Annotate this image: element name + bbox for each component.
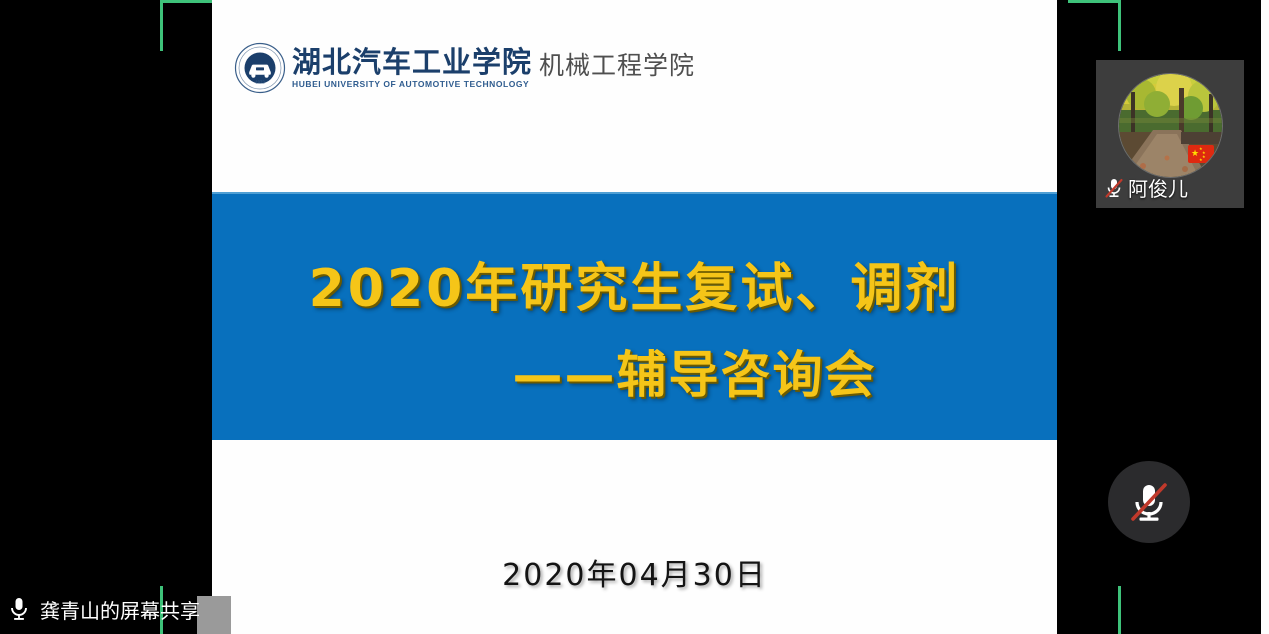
university-seal-icon: 1972 [234,42,286,94]
university-wordmark: 湖北汽车工业学院 HUBEI UNIVERSITY OF AUTOMOTIVE … [292,47,532,89]
microphone-muted-icon [1104,177,1124,199]
letterbox-right [1261,0,1269,634]
avatar: ★ ★ ★ ★ ★ [1119,74,1222,177]
university-logo-lockup: 1972 湖北汽车工业学院 HUBEI UNIVERSITY OF AUTOMO… [234,42,695,94]
shared-slide: 1972 湖北汽车工业学院 HUBEI UNIVERSITY OF AUTOMO… [212,0,1057,634]
title-band-highlight [212,192,1057,194]
share-border-corner-top-left-icon [160,0,215,51]
mute-button[interactable] [1108,461,1190,543]
china-flag-icon: ★ ★ ★ ★ ★ [1188,145,1214,163]
microphone-icon [8,596,30,622]
slide-subtitle: ——辅导咨询会 [212,335,1057,407]
slide-title: 2020年研究生复试、调剂 [212,246,1057,321]
ui-edge-nub [197,596,231,634]
svg-text:1972: 1972 [255,80,265,85]
screen-share-label: 龚青山的屏幕共享 [40,595,200,624]
share-border-corner-bottom-right-icon [1068,586,1121,634]
share-border-corner-top-right-icon [1068,0,1121,51]
participant-name-row: 阿俊儿 [1104,173,1188,202]
slide-date: 2020年04月30日 [212,550,1057,594]
participant-thumbnail[interactable]: ★ ★ ★ ★ ★ 阿俊儿 [1096,60,1244,208]
participant-name: 阿俊儿 [1128,173,1188,202]
college-name-cn: 机械工程学院 [539,46,695,82]
university-name-cn: 湖北汽车工业学院 [292,47,532,77]
microphone-muted-icon [1126,479,1172,525]
screen-share-status: 龚青山的屏幕共享 [8,592,200,626]
university-name-en: HUBEI UNIVERSITY OF AUTOMOTIVE TECHNOLOG… [292,79,532,89]
zoom-meeting-window: 1972 湖北汽车工业学院 HUBEI UNIVERSITY OF AUTOMO… [0,0,1269,634]
